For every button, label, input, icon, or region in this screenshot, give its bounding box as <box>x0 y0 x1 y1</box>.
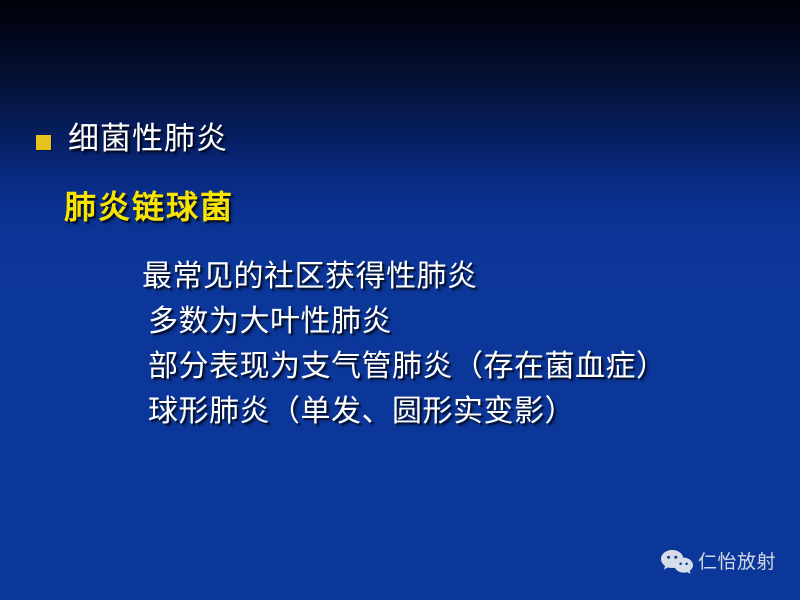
body-line-2: 多数为大叶性肺炎 <box>142 299 792 344</box>
wechat-logo-icon <box>660 548 694 576</box>
bullet-item-label: 细菌性肺炎 <box>68 118 228 160</box>
watermark-label: 仁怡放射 <box>698 551 776 573</box>
body-line-1: 最常见的社区获得性肺炎 <box>142 254 792 299</box>
sub-heading-streptococcus-pneumoniae: 肺炎链球菌 <box>64 186 234 228</box>
bullet-item-bacterial-pneumonia: 细菌性肺炎 <box>36 118 228 160</box>
watermark: 仁怡放射 <box>660 548 776 576</box>
body-line-3: 部分表现为支气管肺炎（存在菌血症） <box>142 344 792 389</box>
body-text-block: 最常见的社区获得性肺炎 多数为大叶性肺炎 部分表现为支气管肺炎（存在菌血症） 球… <box>142 254 792 434</box>
square-bullet-icon <box>36 135 51 150</box>
body-line-4: 球形肺炎（单发、圆形实变影） <box>142 389 792 434</box>
presentation-slide: 细菌性肺炎 肺炎链球菌 最常见的社区获得性肺炎 多数为大叶性肺炎 部分表现为支气… <box>0 0 800 600</box>
